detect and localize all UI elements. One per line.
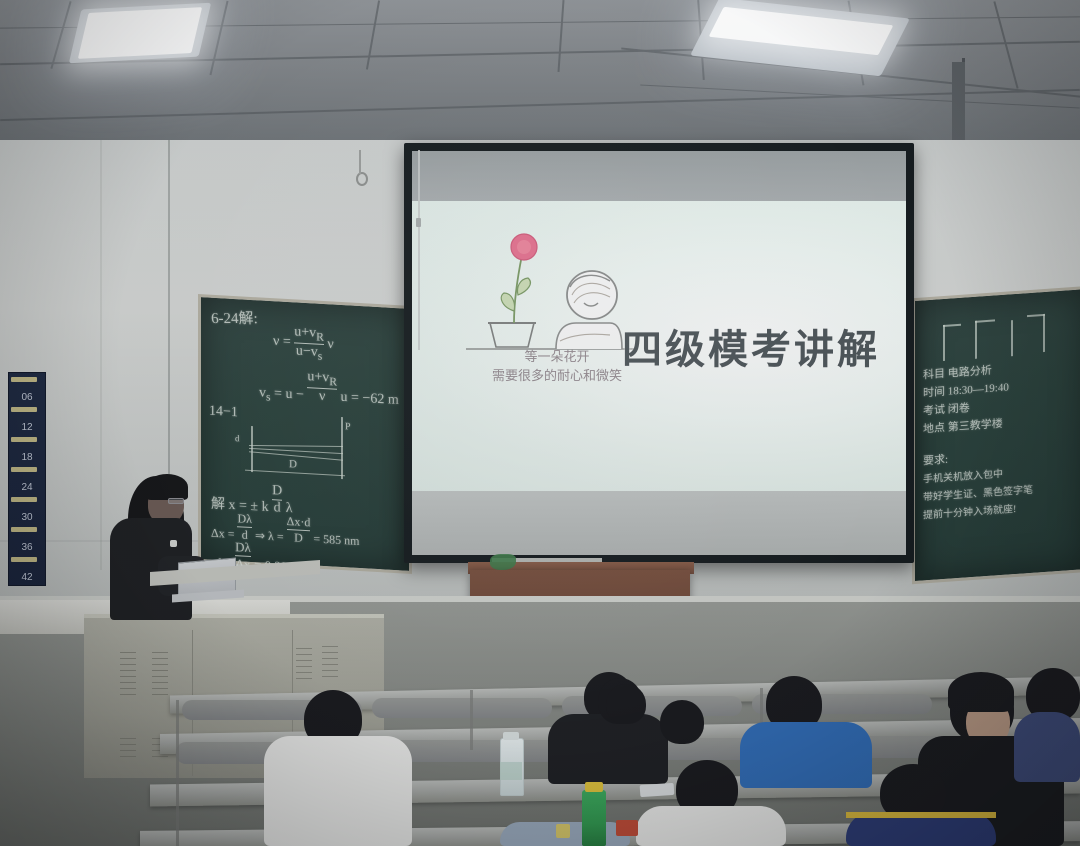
water-bottle-cap — [503, 732, 519, 740]
left-blackboard: 6-24解: ν = u+vRu−vs ν vs = u − u+vRν u =… — [198, 294, 412, 574]
row-number-item: 24 — [9, 465, 45, 495]
student-torso — [1014, 712, 1080, 782]
row-number-item: 18 — [9, 435, 45, 465]
green-cloth — [490, 554, 516, 570]
presenter-glasses-icon — [168, 498, 184, 504]
screen-pull-knob[interactable] — [416, 218, 421, 227]
row-number-item: 12 — [9, 405, 45, 435]
projection-screen: 等一朵花开 需要很多的耐心和微笑 四级模考讲解 — [404, 143, 914, 563]
student-torso — [740, 722, 872, 788]
bench-back — [372, 698, 552, 718]
student-hair — [948, 672, 1014, 712]
slide-title: 四级模考讲解 — [622, 317, 880, 375]
phone-on-desk[interactable] — [640, 783, 675, 797]
slide-content: 等一朵花开 需要很多的耐心和微笑 四级模考讲解 — [412, 201, 906, 491]
student-head — [660, 700, 704, 744]
ceiling-light-left — [78, 7, 202, 59]
small-cup[interactable] — [556, 824, 570, 838]
screen-top-band — [412, 151, 906, 201]
screen-bottom-band — [412, 491, 906, 555]
row-number-item: 30 — [9, 495, 45, 525]
sprite-bottle[interactable] — [582, 790, 606, 846]
snack-item[interactable] — [616, 820, 638, 836]
sprite-bottle-cap — [585, 782, 603, 792]
right-blackboard: 科目 电路分析 时间 18:30—19:40 考试 闭卷 地点 第三教学楼 要求… — [912, 286, 1080, 584]
wall-hook-stem — [359, 150, 361, 174]
row-number-item: 42 — [9, 555, 45, 585]
presenter-badge — [170, 540, 177, 547]
student-torso — [548, 714, 668, 784]
wall-hook-icon — [356, 172, 368, 186]
ceiling — [0, 0, 1080, 150]
row-number-item: 06 — [9, 375, 45, 405]
classroom-photo: 6-24解: ν = u+vRu−vs ν vs = u − u+vRν u =… — [0, 0, 1080, 846]
screen-pull-cord[interactable] — [418, 150, 420, 350]
row-number-item: 36 — [9, 525, 45, 555]
jersey-trim — [846, 812, 996, 818]
water-bottle-label — [500, 762, 522, 780]
row-number-panel: 06 12 18 24 30 36 42 — [8, 372, 46, 586]
student-head — [606, 684, 646, 724]
student-torso — [636, 806, 786, 846]
student-torso — [264, 736, 412, 846]
presenter-hair-front — [146, 474, 188, 500]
